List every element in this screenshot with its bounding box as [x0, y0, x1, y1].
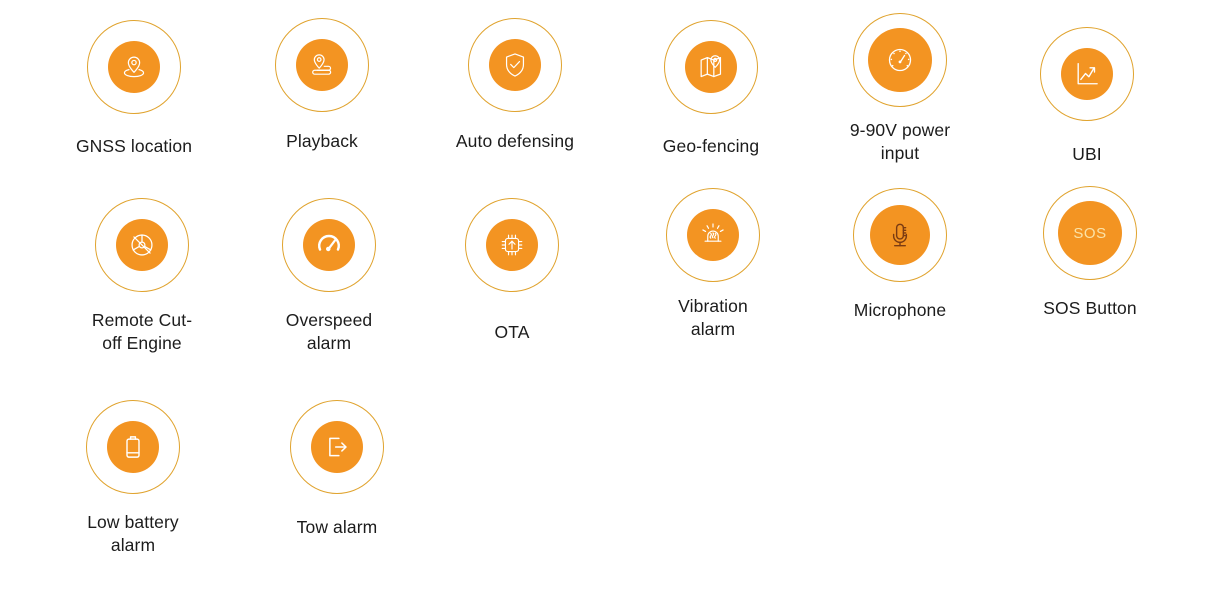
- chip-upload-icon: [486, 219, 538, 271]
- icon-ring-microphone: [853, 188, 947, 282]
- feature-label-power-input: 9-90V power input: [815, 119, 985, 166]
- feature-label-geo-fencing: Geo-fencing: [626, 135, 796, 158]
- gauge-icon: [868, 28, 932, 92]
- feature-label-sos-button: SOS Button: [1005, 297, 1175, 320]
- steering-wheel-disabled-icon: [116, 219, 168, 271]
- speedometer-icon: [303, 219, 355, 271]
- playback-route-pin-icon: [296, 39, 348, 91]
- feature-item-sos-button[interactable]: SOSSOS Button: [1005, 186, 1175, 320]
- feature-item-auto-defensing[interactable]: Auto defensing: [430, 18, 600, 153]
- icon-ring-power-input: [853, 13, 947, 107]
- feature-item-ota[interactable]: OTA: [427, 198, 597, 344]
- icon-ring-auto-defensing: [468, 18, 562, 112]
- icon-ring-overspeed-alarm: [282, 198, 376, 292]
- feature-label-low-battery-alarm: Low battery alarm: [48, 511, 218, 558]
- feature-label-playback: Playback: [237, 130, 407, 153]
- icon-ring-ota: [465, 198, 559, 292]
- sos-text-icon: SOS: [1058, 201, 1122, 265]
- feature-label-overspeed-alarm: Overspeed alarm: [244, 309, 414, 356]
- icon-ring-geo-fencing: [664, 20, 758, 114]
- shield-check-icon: [489, 39, 541, 91]
- feature-item-low-battery-alarm[interactable]: Low battery alarm: [48, 400, 218, 558]
- icon-ring-low-battery-alarm: [86, 400, 180, 494]
- battery-icon: [107, 421, 159, 473]
- microphone-icon: [870, 205, 930, 265]
- feature-item-gnss-location[interactable]: GNSS location: [49, 20, 219, 158]
- feature-label-remote-cut-off-engine: Remote Cut- off Engine: [57, 309, 227, 356]
- sos-label: SOS: [1073, 225, 1106, 242]
- feature-label-microphone: Microphone: [815, 299, 985, 322]
- feature-label-ota: OTA: [427, 321, 597, 344]
- feature-item-tow-alarm[interactable]: Tow alarm: [252, 400, 422, 539]
- map-pin-fold-icon: [685, 41, 737, 93]
- exit-arrow-icon: [311, 421, 363, 473]
- feature-item-vibration-alarm[interactable]: Vibration alarm: [628, 188, 798, 342]
- feature-item-power-input[interactable]: 9-90V power input: [815, 13, 985, 166]
- feature-label-vibration-alarm: Vibration alarm: [628, 295, 798, 342]
- feature-item-ubi[interactable]: UBI: [1002, 27, 1172, 166]
- icon-ring-ubi: [1040, 27, 1134, 121]
- icon-ring-playback: [275, 18, 369, 112]
- feature-icon-grid: GNSS locationPlaybackAuto defensingGeo-f…: [0, 0, 1209, 591]
- siren-beacon-icon: [687, 209, 739, 261]
- feature-label-gnss-location: GNSS location: [49, 135, 219, 158]
- icon-ring-gnss-location: [87, 20, 181, 114]
- feature-item-overspeed-alarm[interactable]: Overspeed alarm: [244, 198, 414, 356]
- icon-ring-sos-button: SOS: [1043, 186, 1137, 280]
- feature-item-playback[interactable]: Playback: [237, 18, 407, 153]
- feature-label-tow-alarm: Tow alarm: [252, 516, 422, 539]
- icon-ring-tow-alarm: [290, 400, 384, 494]
- feature-item-remote-cut-off-engine[interactable]: Remote Cut- off Engine: [57, 198, 227, 356]
- line-chart-icon: [1061, 48, 1113, 100]
- icon-ring-vibration-alarm: [666, 188, 760, 282]
- feature-item-microphone[interactable]: Microphone: [815, 188, 985, 322]
- feature-item-geo-fencing[interactable]: Geo-fencing: [626, 20, 796, 158]
- feature-label-ubi: UBI: [1002, 143, 1172, 166]
- location-pin-icon: [108, 41, 160, 93]
- icon-ring-remote-cut-off-engine: [95, 198, 189, 292]
- feature-label-auto-defensing: Auto defensing: [430, 130, 600, 153]
